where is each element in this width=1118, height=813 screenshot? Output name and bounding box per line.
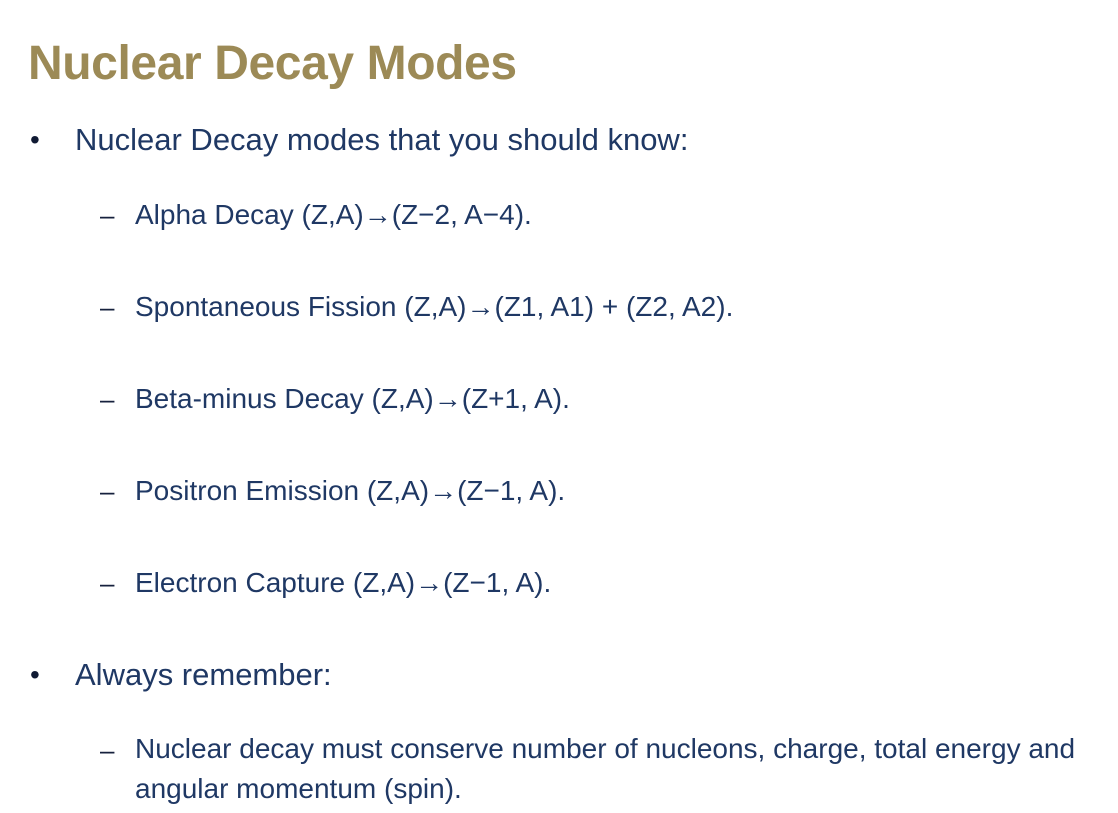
list-item: – Beta-minus Decay (Z,A)→(Z+1, A). [0,378,1118,445]
list-item: – Alpha Decay (Z,A)→(Z−2, A−4). [0,194,1118,261]
list-item: • Nuclear Decay modes that you should kn… [0,118,1118,180]
list-item-text: Beta-minus Decay (Z,A)→(Z+1, A). [135,378,1118,420]
list-item-text: Always remember: [75,653,1118,697]
bullet-dash-icon: – [100,562,122,604]
page-title: Nuclear Decay Modes [28,34,517,94]
list-item: – Electron Capture (Z,A)→(Z−1, A). [0,562,1118,629]
list-item-text: Nuclear decay must conserve number of nu… [135,729,1095,809]
slide: Nuclear Decay Modes • Nuclear Decay mode… [0,0,1118,663]
list-item-text: Electron Capture (Z,A)→(Z−1, A). [135,562,1118,604]
bullet-dash-icon: – [100,194,122,236]
bullet-dash-icon: – [100,729,122,771]
bullet-dash-icon: – [100,378,122,420]
list-item: • Always remember: [0,653,1118,715]
bullet-dash-icon: – [100,286,122,328]
bullet-dot-icon: • [30,118,46,162]
list-item-text: Alpha Decay (Z,A)→(Z−2, A−4). [135,194,1118,236]
list-item-text: Spontaneous Fission (Z,A)→(Z1, A1) + (Z2… [135,286,1118,328]
list-item-text: Nuclear Decay modes that you should know… [75,118,1118,162]
list-item: – Nuclear decay must conserve number of … [0,729,1118,813]
bullet-dash-icon: – [100,470,122,512]
list-item-text: Positron Emission (Z,A)→(Z−1, A). [135,470,1118,512]
bullet-dot-icon: • [30,653,46,697]
list-item: – Spontaneous Fission (Z,A)→(Z1, A1) + (… [0,286,1118,353]
slide-body-list: • Nuclear Decay modes that you should kn… [0,118,1118,813]
list-item: – Positron Emission (Z,A)→(Z−1, A). [0,470,1118,537]
